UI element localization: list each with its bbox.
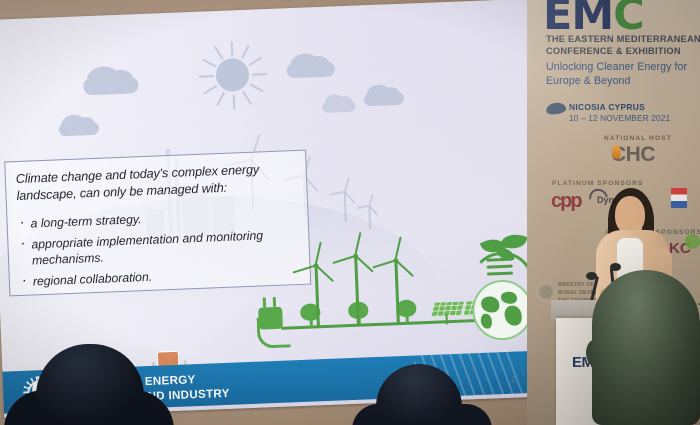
leaf-badge-icon [685, 234, 700, 249]
solar-panel-leg [446, 314, 449, 324]
chevron-logo [671, 188, 687, 208]
cyprus-map-icon [545, 102, 566, 116]
turbine-pole [394, 260, 399, 324]
ministry-seal-icon [536, 282, 556, 302]
slide-page-number: 2 [511, 375, 516, 384]
turbine-blade [355, 255, 374, 273]
turbine-blade [394, 237, 402, 261]
banner-dates: 10 – 12 NOVEMBER 2021 [569, 113, 700, 124]
national-host-label: NATIONAL HOST [604, 135, 672, 142]
banner-city: NICOSIA CYPRUS [569, 102, 700, 113]
cpp-logo: cpp [551, 190, 581, 213]
background-wind-turbines [0, 0, 528, 20]
banner-location: NICOSIA CYPRUS 10 – 12 NOVEMBER 2021 [569, 102, 700, 125]
banner-subtitle: THE EASTERN MEDITERRANEAN CONFERENCE & E… [546, 34, 700, 58]
turbine-pole [344, 192, 347, 222]
audience-head [592, 270, 700, 425]
turbine-blade [372, 259, 396, 268]
emc-logo: EMC [543, 0, 644, 37]
eco-infographic [234, 235, 538, 362]
turbine-blade [395, 259, 414, 277]
plug-pin-icon [263, 297, 266, 307]
microphone-head [610, 263, 621, 271]
microphone-head [586, 272, 597, 280]
turbine-blade [315, 264, 334, 282]
banner-tagline: Unlocking Cleaner Energy for Europe & Be… [546, 60, 700, 89]
speaker-head [615, 196, 645, 234]
turbine-blade [368, 193, 374, 205]
turbine-blade [344, 192, 356, 205]
slide-intro-text: Climate change and today's complex energ… [16, 160, 297, 205]
turbine-blade [329, 191, 345, 196]
turbine-blade [315, 242, 323, 266]
flame-icon [612, 145, 621, 159]
plug-cord [257, 316, 291, 348]
platinum-sponsors-label: PLATINUM SPONSORS [552, 180, 643, 187]
turbine-blade [332, 255, 356, 264]
plug-pin-icon [273, 297, 276, 307]
turbine-blade [293, 264, 317, 273]
conference-photo: Climate change and today's complex energ… [0, 0, 700, 425]
